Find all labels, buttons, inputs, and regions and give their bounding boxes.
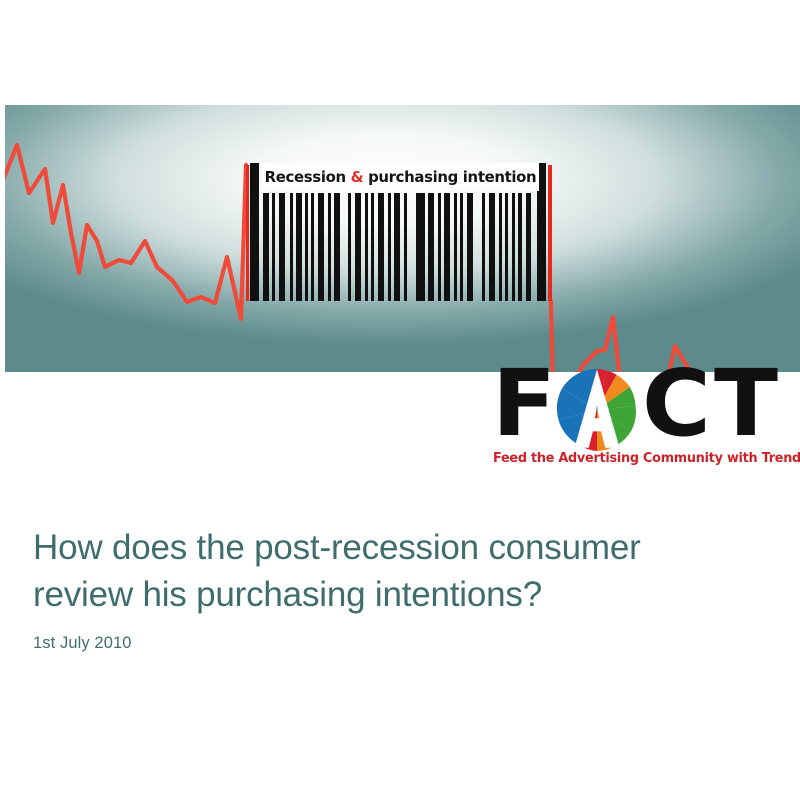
fact-logo-tagline: Feed the Advertising Community with Tren…	[493, 451, 790, 466]
barcode-label-text: Recession & purchasing intention	[264, 168, 536, 186]
slide-date: 1st July 2010	[33, 634, 753, 653]
fact-wordmark: F	[492, 369, 798, 451]
fact-logo-mark-a	[556, 369, 638, 451]
barcode-graphic: Recession & purchasing intention	[245, 163, 555, 303]
fact-letter-f: F	[492, 363, 556, 445]
fact-letter-c: C	[642, 363, 711, 445]
barcode-label-part-2: purchasing intention	[363, 168, 536, 186]
fact-letter-t: T	[714, 363, 778, 445]
barcode-label-ampersand: &	[350, 168, 363, 186]
barcode-label-part-1: Recession	[264, 168, 350, 186]
fact-colored-circle-icon	[556, 369, 638, 451]
barcode-guard-right	[548, 165, 552, 301]
barcode-label-plate: Recession & purchasing intention	[261, 163, 539, 191]
page-title: How does the post-recession consumerrevi…	[33, 524, 753, 618]
page-title-line-1: How does the post-recession consumer	[33, 528, 641, 567]
title-slide: Recession & purchasing intention F	[0, 0, 800, 800]
barcode-guard-left	[246, 165, 249, 301]
fact-logo: F	[492, 369, 798, 477]
page-title-line-2: review his purchasing intentions?	[33, 575, 542, 614]
title-block: How does the post-recession consumerrevi…	[33, 524, 753, 653]
